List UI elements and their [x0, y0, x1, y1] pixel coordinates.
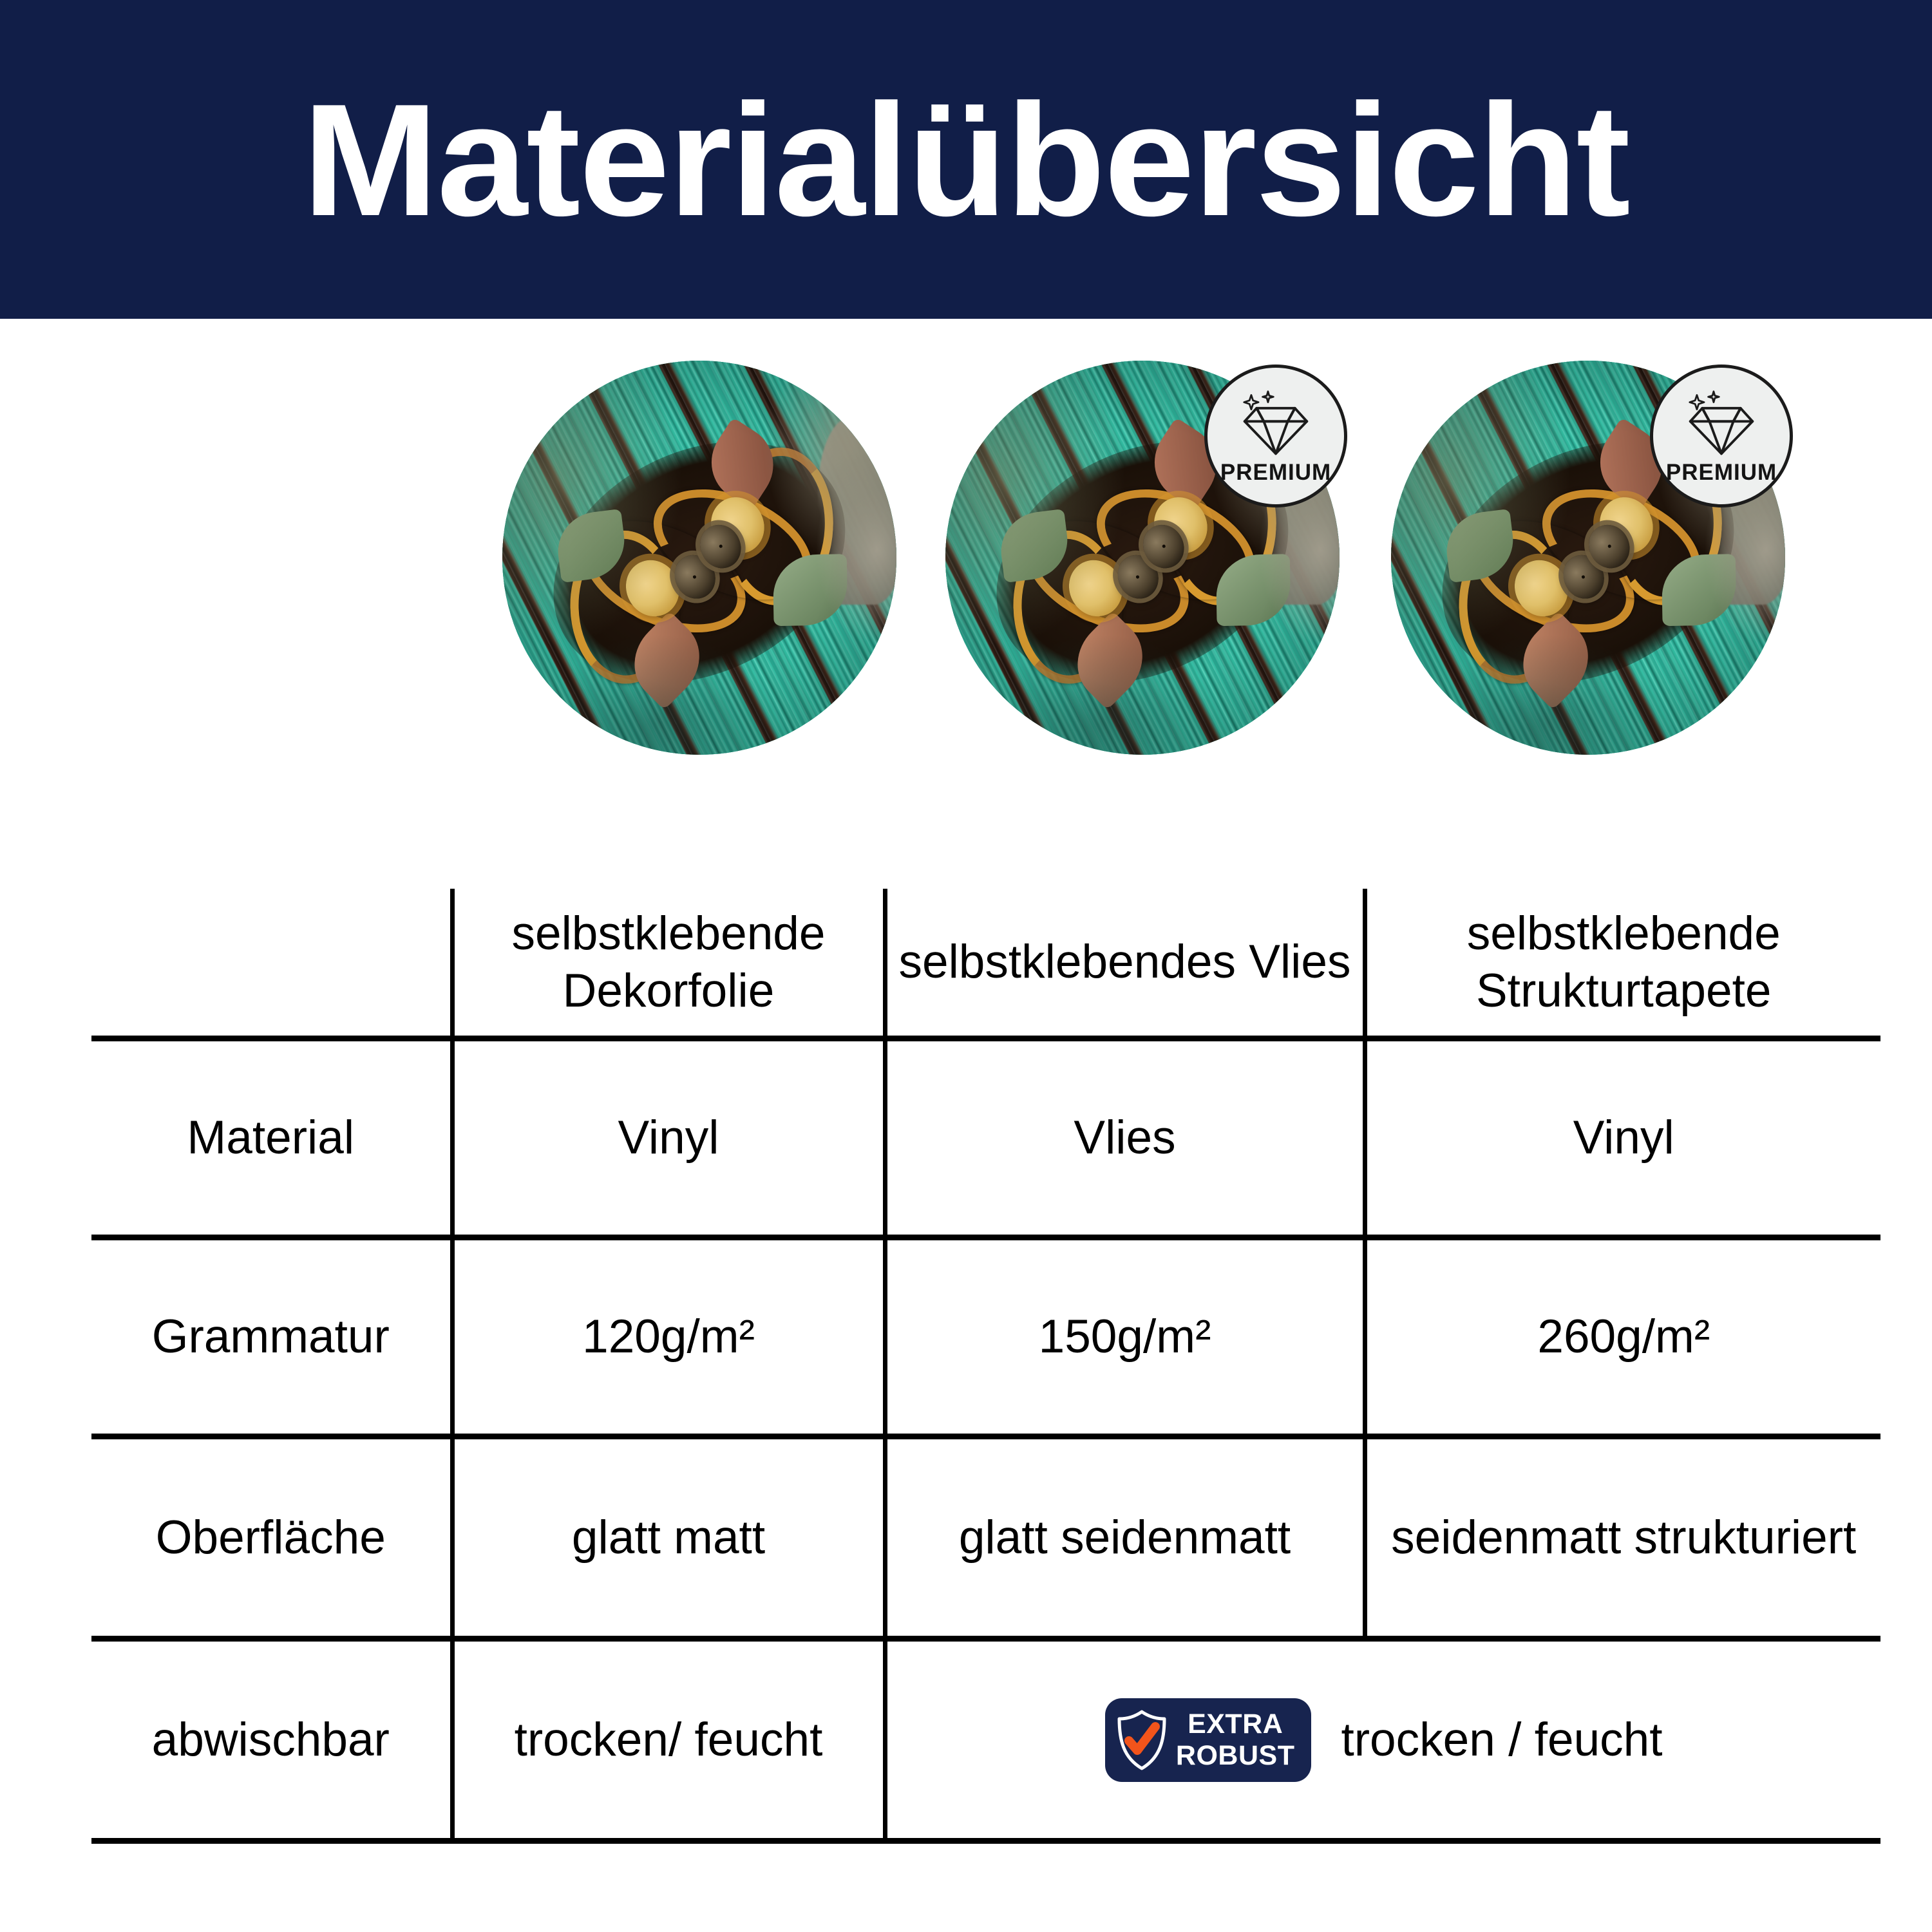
row-label-oberflaeche: Oberfläche	[91, 1437, 452, 1639]
robust-label-line2: ROBUST	[1176, 1742, 1295, 1770]
row-label-material: Material	[91, 1039, 452, 1238]
cell-grammatur-dekorfolie: 120g/m²	[452, 1238, 885, 1437]
table-row-material: Material Vinyl Vlies Vinyl	[91, 1039, 1880, 1238]
table-row-oberflaeche: Oberfläche glatt matt glatt seidenmatt s…	[91, 1437, 1880, 1639]
premium-label: PREMIUM	[1666, 460, 1777, 486]
product-preview-1[interactable]	[502, 361, 896, 755]
cell-material-dekorfolie: Vinyl	[452, 1039, 885, 1238]
cell-oberflaeche-dekorfolie: glatt matt	[452, 1437, 885, 1639]
cell-grammatur-vlies: 150g/m²	[885, 1238, 1365, 1437]
cell-abwischbar-dekorfolie: trocken/ feucht	[452, 1639, 885, 1841]
table-header-row: selbstklebende Dekorfolie selbstklebende…	[91, 889, 1880, 1039]
page-title: Materialübersicht	[303, 80, 1629, 240]
column-header-dekorfolie: selbstklebende Dekorfolie	[452, 889, 885, 1039]
extra-robust-badge: EXTRA ROBUST	[1105, 1698, 1312, 1782]
column-header-vlies: selbstklebendes Vlies	[885, 889, 1365, 1039]
cell-oberflaeche-strukturtapete: seidenmatt strukturiert	[1365, 1437, 1880, 1639]
material-spec-table: selbstklebende Dekorfolie selbstklebende…	[91, 889, 1880, 1844]
cell-abwischbar-merged-text: trocken / feucht	[1341, 1711, 1662, 1768]
cell-oberflaeche-vlies: glatt seidenmatt	[885, 1437, 1365, 1639]
product-preview-3[interactable]: PREMIUM	[1391, 361, 1785, 755]
robust-label-line1: EXTRA	[1176, 1710, 1295, 1738]
table-corner-cell	[91, 889, 452, 1039]
cell-grammatur-strukturtapete: 260g/m²	[1365, 1238, 1880, 1437]
row-label-abwischbar: abwischbar	[91, 1639, 452, 1841]
product-preview-row: PREMIUM	[0, 361, 1932, 757]
cell-abwischbar-merged: EXTRA ROBUST trocken / feucht	[885, 1639, 1880, 1841]
premium-badge: PREMIUM	[1650, 365, 1793, 507]
cell-material-strukturtapete: Vinyl	[1365, 1039, 1880, 1238]
table-row-abwischbar: abwischbar trocken/ feucht EXTRA ROBUST	[91, 1639, 1880, 1841]
product-image-dekorfolie	[502, 361, 896, 755]
wood-weathering	[502, 361, 896, 755]
premium-badge: PREMIUM	[1204, 365, 1347, 507]
premium-label: PREMIUM	[1220, 460, 1331, 486]
diamond-icon	[1685, 390, 1757, 457]
diamond-icon	[1240, 390, 1312, 457]
shield-check-icon	[1115, 1710, 1168, 1770]
cell-material-vlies: Vlies	[885, 1039, 1365, 1238]
column-header-strukturtapete: selbstklebende Strukturtapete	[1365, 889, 1880, 1039]
row-label-grammatur: Grammatur	[91, 1238, 452, 1437]
header-banner: Materialübersicht	[0, 0, 1932, 319]
product-preview-2[interactable]: PREMIUM	[945, 361, 1340, 755]
table-row-grammatur: Grammatur 120g/m² 150g/m² 260g/m²	[91, 1238, 1880, 1437]
